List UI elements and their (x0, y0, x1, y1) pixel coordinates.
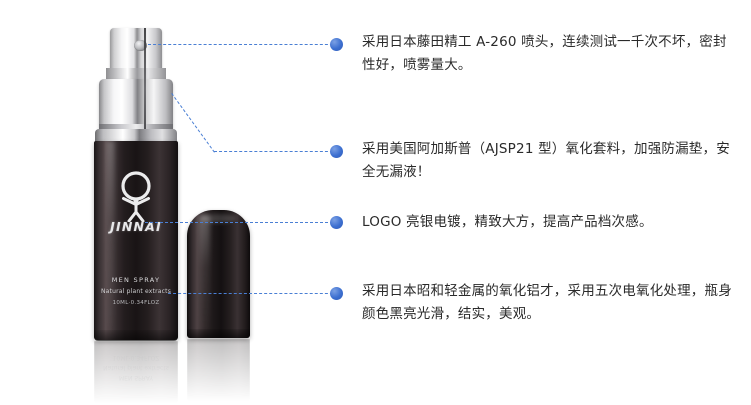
infographic-canvas: MEN SPRAY Natural plant extracts 10ML·0.… (0, 0, 751, 405)
cap-reflection (187, 339, 250, 403)
callout-text-nozzle: 采用日本藤田精工 A-260 喷头，连续测试一千次不坏，密封性好，喷雾量大。 (362, 31, 740, 77)
product-photo: MEN SPRAY Natural plant extracts 10ML·0.… (0, 0, 330, 405)
leader-line-logo (145, 222, 338, 223)
callout-dot-material[interactable] (330, 287, 343, 300)
callout-dot-nozzle[interactable] (330, 38, 343, 51)
cap-base-shadow (187, 329, 250, 338)
callout-dot-seal[interactable] (330, 145, 343, 158)
leader-line-material (168, 293, 338, 294)
callout-text-logo: LOGO 亮银电镀，精致大方，提高产品档次感。 (362, 211, 740, 234)
cap-highlight (199, 214, 210, 332)
bottle-base-shadow (94, 330, 178, 341)
leader-line-seal (214, 151, 338, 152)
label-volume: 10ML·0.34FLOZ (94, 300, 178, 306)
leader-line-nozzle (148, 44, 338, 45)
callout-text-material: 采用日本昭和轻金属的氧化铝才，采用五次电氧化处理，瓶身颜色黑亮光滑，结实，美观。 (362, 280, 740, 326)
label-extracts: Natural plant extracts (94, 288, 178, 295)
jinnai-logo-icon (112, 170, 160, 222)
callout-text-seal: 采用美国阿加斯普（AJSP21 型）氧化套料，加强防漏垫，安全无漏液！ (362, 138, 740, 184)
callout-dot-logo[interactable] (330, 216, 343, 229)
bottle-cap (187, 210, 250, 338)
label-men-spray: MEN SPRAY (94, 276, 178, 284)
label-reflection: MEN SPRAY Natural plant extracts 10ML·0.… (94, 352, 178, 382)
pump-center-seam (144, 28, 146, 129)
